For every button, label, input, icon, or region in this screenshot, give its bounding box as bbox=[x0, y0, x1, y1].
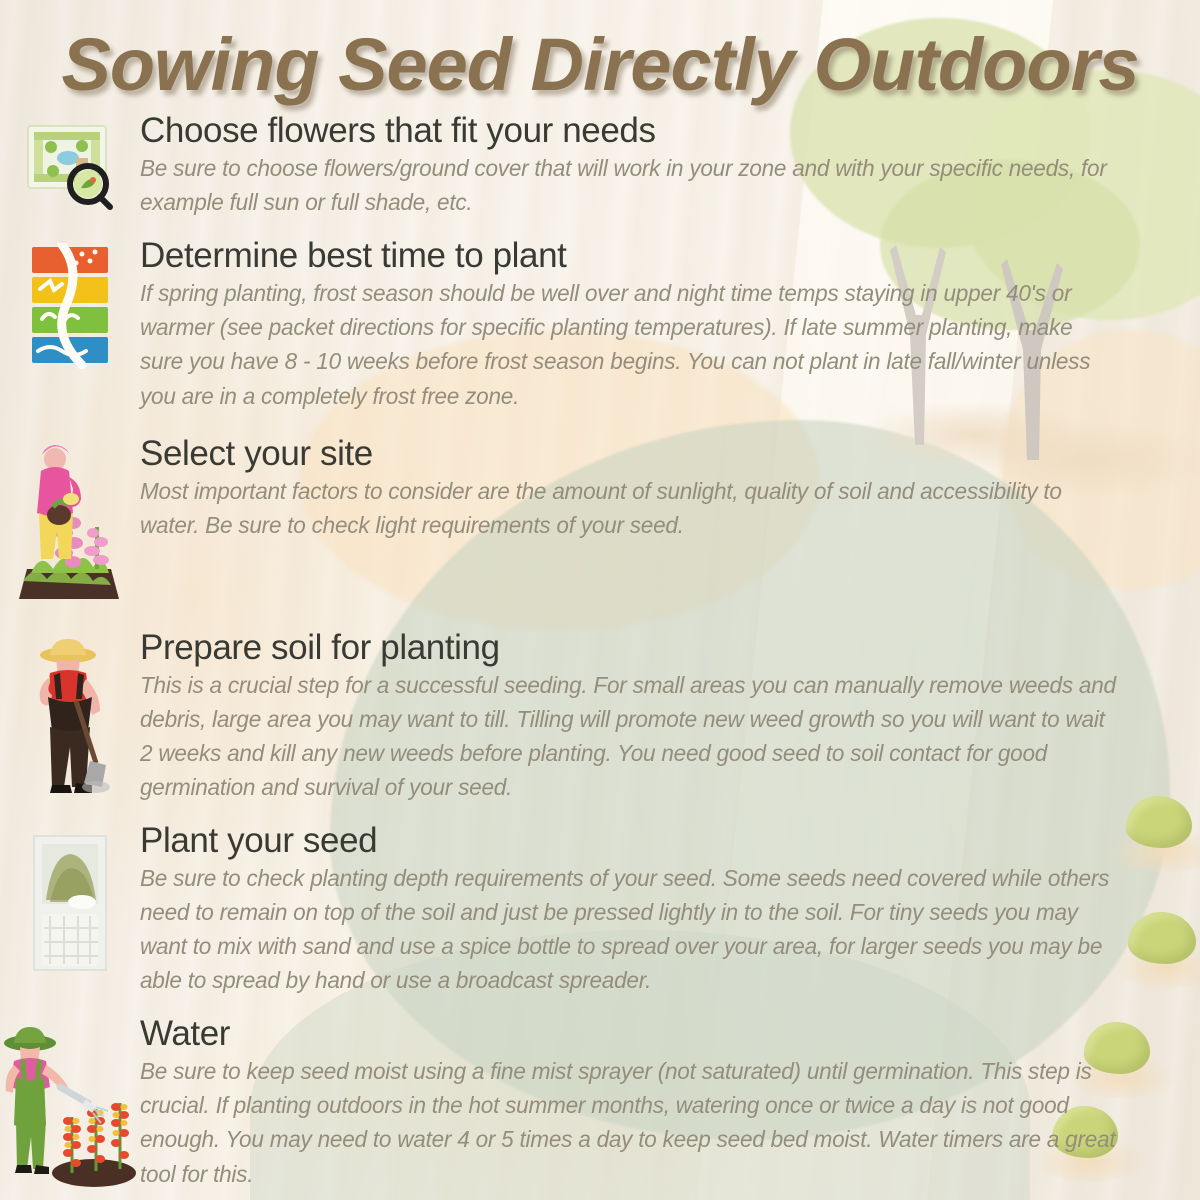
step-body: If spring planting, frost season should … bbox=[140, 276, 1117, 412]
page-title: Sowing Seed Directly Outdoors bbox=[0, 22, 1200, 107]
poster-canvas: Sowing Seed Directly Outdoors bbox=[0, 0, 1200, 1200]
step-body: Most important factors to consider are t… bbox=[140, 474, 1117, 542]
step-icon-container bbox=[0, 237, 140, 369]
step-icon-container bbox=[0, 112, 140, 210]
step-body: Be sure to keep seed moist using a fine … bbox=[140, 1054, 1117, 1190]
step-body: This is a crucial step for a successful … bbox=[140, 668, 1117, 804]
step-row: Plant your seed Be sure to check plantin… bbox=[0, 822, 1200, 997]
step-text-container: Plant your seed Be sure to check plantin… bbox=[140, 822, 1200, 997]
step-icon-container bbox=[0, 822, 140, 978]
step-text-container: Water Be sure to keep seed moist using a… bbox=[140, 1015, 1200, 1190]
garden-plan-icon bbox=[18, 118, 122, 210]
step-body: Be sure to choose flowers/ground cover t… bbox=[140, 151, 1117, 219]
step-heading: Choose flowers that fit your needs bbox=[140, 112, 1158, 149]
step-row: Choose flowers that fit your needs Be su… bbox=[0, 112, 1200, 219]
step-body: Be sure to check planting depth requirem… bbox=[140, 861, 1117, 997]
step-text-container: Choose flowers that fit your needs Be su… bbox=[140, 112, 1200, 219]
gardener-watering-icon bbox=[0, 1021, 140, 1189]
step-heading: Prepare soil for planting bbox=[140, 629, 1158, 666]
step-heading: Water bbox=[140, 1015, 1158, 1052]
step-text-container: Prepare soil for planting This is a cruc… bbox=[140, 629, 1200, 804]
steps-list: Choose flowers that fit your needs Be su… bbox=[0, 112, 1200, 1191]
step-text-container: Select your site Most important factors … bbox=[140, 435, 1200, 542]
gardener-planting-flowers-icon bbox=[15, 441, 125, 603]
step-heading: Select your site bbox=[140, 435, 1158, 472]
step-icon-container bbox=[0, 435, 140, 603]
step-text-container: Determine best time to plant If spring p… bbox=[140, 237, 1200, 412]
four-seasons-calendar-icon bbox=[20, 243, 120, 369]
step-row: Select your site Most important factors … bbox=[0, 435, 1200, 603]
step-heading: Plant your seed bbox=[140, 822, 1158, 859]
farmer-digging-shovel-icon bbox=[18, 635, 122, 795]
step-row: Prepare soil for planting This is a cruc… bbox=[0, 629, 1200, 804]
step-row: Determine best time to plant If spring p… bbox=[0, 237, 1200, 412]
step-icon-container bbox=[0, 629, 140, 795]
step-icon-container bbox=[0, 1015, 140, 1189]
step-heading: Determine best time to plant bbox=[140, 237, 1158, 274]
step-row: Water Be sure to keep seed moist using a… bbox=[0, 1015, 1200, 1190]
seed-packet-photo-icon bbox=[20, 828, 120, 978]
